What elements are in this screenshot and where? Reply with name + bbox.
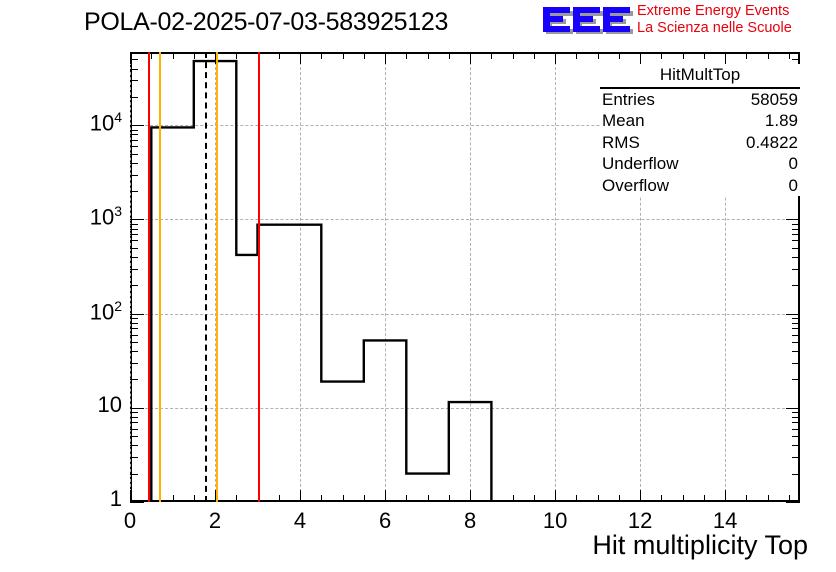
stats-row: Overflow 0: [600, 175, 800, 197]
stats-row-value: 1.89: [765, 110, 798, 132]
marker-line-solid: [159, 52, 161, 502]
x-axis-tick-label: 8: [448, 508, 492, 534]
y-axis-tick-label: 10: [34, 392, 122, 418]
y-axis-tick-label: 1: [34, 486, 122, 512]
stats-row-label: Entries: [602, 89, 655, 111]
stats-rows: Entries 58059 Mean 1.89 RMS 0.4822 Under…: [600, 89, 800, 197]
y-axis-tick-label: 102: [34, 298, 122, 325]
stats-row-label: RMS: [602, 132, 640, 154]
eee-logo-line2: La Scienza nelle Scuole: [637, 20, 792, 37]
stats-row: Entries 58059: [600, 89, 800, 111]
x-axis-tick-label: 4: [278, 508, 322, 534]
y-axis-tick-major: [786, 502, 800, 503]
marker-line-dashed: [205, 52, 207, 502]
stats-title: HitMultTop: [600, 64, 800, 89]
root-canvas: POLA-02-2025-07-03-583925123: [0, 0, 836, 572]
x-axis-tick-label: 10: [533, 508, 577, 534]
stats-row: RMS 0.4822: [600, 132, 800, 154]
marker-line-solid: [216, 52, 218, 502]
stats-row-value: 58059: [751, 89, 798, 111]
eee-logo: Extreme Energy Events La Scienza nelle S…: [541, 2, 833, 40]
stats-row: Underflow 0: [600, 153, 800, 175]
eee-logo-text: Extreme Energy Events La Scienza nelle S…: [637, 3, 792, 37]
stats-row-label: Underflow: [602, 153, 679, 175]
stats-row-value: 0: [789, 175, 798, 197]
y-axis-tick-label: 103: [34, 203, 122, 230]
marker-line-solid: [258, 52, 260, 502]
stats-row-label: Overflow: [602, 175, 669, 197]
stats-row-value: 0: [789, 153, 798, 175]
x-axis-tick-label: 2: [193, 508, 237, 534]
x-axis-tick-label: 6: [363, 508, 407, 534]
page-title: POLA-02-2025-07-03-583925123: [84, 8, 448, 37]
y-axis-tick-label: 104: [34, 109, 122, 136]
stats-box: HitMultTop Entries 58059 Mean 1.89 RMS 0…: [600, 64, 800, 196]
eee-logo-line1: Extreme Energy Events: [637, 3, 792, 20]
stats-row: Mean 1.89: [600, 110, 800, 132]
eee-logo-mark: [541, 2, 633, 38]
stats-row-label: Mean: [602, 110, 645, 132]
y-axis-tick-major: [130, 502, 144, 503]
stats-row-value: 0.4822: [746, 132, 798, 154]
marker-line-solid: [148, 52, 150, 502]
x-axis-title: Hit multiplicity Top: [592, 530, 808, 561]
